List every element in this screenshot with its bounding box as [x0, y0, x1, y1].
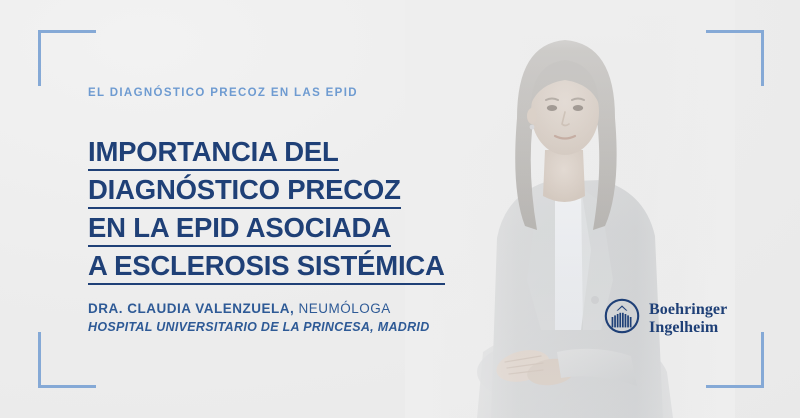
- page-title: IMPORTANCIA DEL DIAGNÓSTICO PRECOZ EN LA…: [88, 136, 588, 288]
- boehringer-ingelheim-wordmark: Boehringer Ingelheim: [649, 301, 727, 336]
- boehringer-ingelheim-logo: Boehringer Ingelheim: [604, 298, 727, 339]
- corner-bracket-bottom-right: [706, 332, 764, 388]
- speaker-name-row: DRA. CLAUDIA VALENZUELA, NEUMÓLOGA: [88, 300, 430, 317]
- title-line: DIAGNÓSTICO PRECOZ: [88, 174, 401, 209]
- logo-line-2: Ingelheim: [649, 319, 727, 337]
- title-card-slide: ILD-0357-072021 EL DIAGNÓSTICO PRECOZ EN…: [0, 0, 800, 418]
- title-line: IMPORTANCIA DEL: [88, 136, 339, 171]
- speaker-credentials: DRA. CLAUDIA VALENZUELA, NEUMÓLOGA HOSPI…: [88, 300, 430, 335]
- speaker-name: DRA. CLAUDIA VALENZUELA,: [88, 301, 294, 316]
- title-line: EN LA EPID ASOCIADA: [88, 212, 391, 247]
- eyebrow-kicker: EL DIAGNÓSTICO PRECOZ EN LAS EPID: [88, 87, 358, 99]
- corner-bracket-top-right: [706, 30, 764, 86]
- speaker-role: NEUMÓLOGA: [299, 301, 391, 316]
- boehringer-ingelheim-mark-icon: [604, 298, 640, 339]
- title-line: A ESCLEROSIS SISTÉMICA: [88, 250, 445, 285]
- text-content: EL DIAGNÓSTICO PRECOZ EN LAS EPID IMPORT…: [88, 0, 608, 418]
- speaker-affiliation: HOSPITAL UNIVERSITARIO DE LA PRINCESA, M…: [88, 319, 430, 335]
- logo-line-1: Boehringer: [649, 301, 727, 319]
